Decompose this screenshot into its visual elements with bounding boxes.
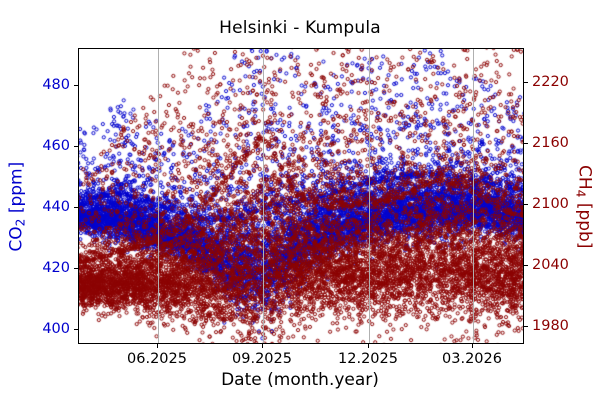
x-tick-label: 09.2025: [232, 351, 292, 367]
y-tick-right: [524, 265, 528, 266]
y-axis-label-left: CO2 [ppm]: [6, 127, 27, 287]
gridline: [369, 49, 370, 343]
y-tick-label-left: 460: [32, 138, 70, 154]
chart-title: Helsinki - Kumpula: [0, 18, 600, 38]
y-tick-label-right: 2100: [532, 196, 569, 212]
scatter-canvas: [79, 49, 524, 344]
x-tick-label: 03.2026: [442, 351, 502, 367]
y-axis-label-right: CH4 [ppb]: [573, 127, 594, 287]
gridline: [473, 49, 474, 343]
y-tick-label-left: 420: [32, 260, 70, 276]
x-tick: [472, 344, 473, 348]
y-tick-label-left: 480: [32, 77, 70, 93]
y-tick-label-right: 2040: [532, 257, 569, 273]
gridline: [263, 49, 264, 343]
y-tick-left: [74, 268, 78, 269]
y-tick-right: [524, 204, 528, 205]
y-tick-label-left: 440: [32, 199, 70, 215]
y-tick-left: [74, 329, 78, 330]
x-tick-label: 12.2025: [338, 351, 398, 367]
gridline: [158, 49, 159, 343]
y-tick-left: [74, 85, 78, 86]
x-axis-label: Date (month.year): [0, 370, 600, 390]
x-tick-label: 06.2025: [127, 351, 187, 367]
y-tick-right: [524, 143, 528, 144]
figure: Helsinki - Kumpula 06.202509.202512.2025…: [0, 0, 600, 400]
y-tick-right: [524, 82, 528, 83]
x-tick: [262, 344, 263, 348]
y-tick-left: [74, 146, 78, 147]
y-tick-label-right: 2160: [532, 135, 569, 151]
plot-area: [78, 48, 524, 344]
y-tick-right: [524, 326, 528, 327]
y-tick-left: [74, 207, 78, 208]
x-tick: [368, 344, 369, 348]
y-tick-label-right: 2220: [532, 74, 569, 90]
y-tick-label-right: 1980: [532, 318, 569, 334]
y-tick-label-left: 400: [32, 321, 70, 337]
x-tick: [157, 344, 158, 348]
